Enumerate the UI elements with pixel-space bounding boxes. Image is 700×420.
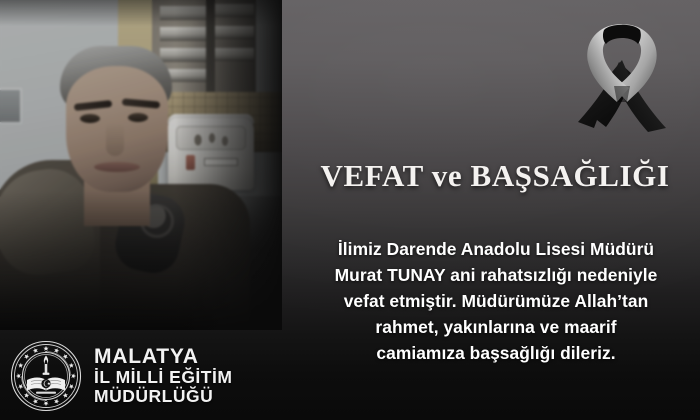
logo-line-office: MÜDÜRLÜĞÜ xyxy=(94,388,232,406)
portrait-photo-edge-fade xyxy=(0,0,282,330)
memorial-message-line: camiamıza başsağlığı dileriz. xyxy=(290,340,700,366)
logo-line-province: MALATYA xyxy=(94,346,232,367)
memorial-message: İlimiz Darende Anadolu Lisesi Müdürü Mur… xyxy=(290,236,700,366)
mourning-ribbon-icon xyxy=(570,10,674,135)
organization-logo-text: MALATYA İL MİLLİ EĞİTİM MÜDÜRLÜĞÜ xyxy=(94,346,232,405)
organization-logo: MALATYA İL MİLLİ EĞİTİM MÜDÜRLÜĞÜ xyxy=(10,340,232,412)
page-title: VEFAT ve BAŞSAĞLIĞI xyxy=(290,158,700,194)
memorial-poster: VEFAT ve BAŞSAĞLIĞI İlimiz Darende Anado… xyxy=(0,0,700,420)
memorial-message-line: Murat TUNAY ani rahatsızlığı nedeniyle xyxy=(290,262,700,288)
memorial-message-line: İlimiz Darende Anadolu Lisesi Müdürü xyxy=(290,236,700,262)
logo-line-directorate: İL MİLLİ EĞİTİM xyxy=(94,369,232,387)
portrait-photo xyxy=(0,0,282,330)
memorial-message-line: rahmet, yakınlarına ve maarif xyxy=(290,314,700,340)
meb-seal-icon xyxy=(10,340,82,412)
memorial-message-line: vefat etmiştir. Müdürümüze Allah’tan xyxy=(290,288,700,314)
